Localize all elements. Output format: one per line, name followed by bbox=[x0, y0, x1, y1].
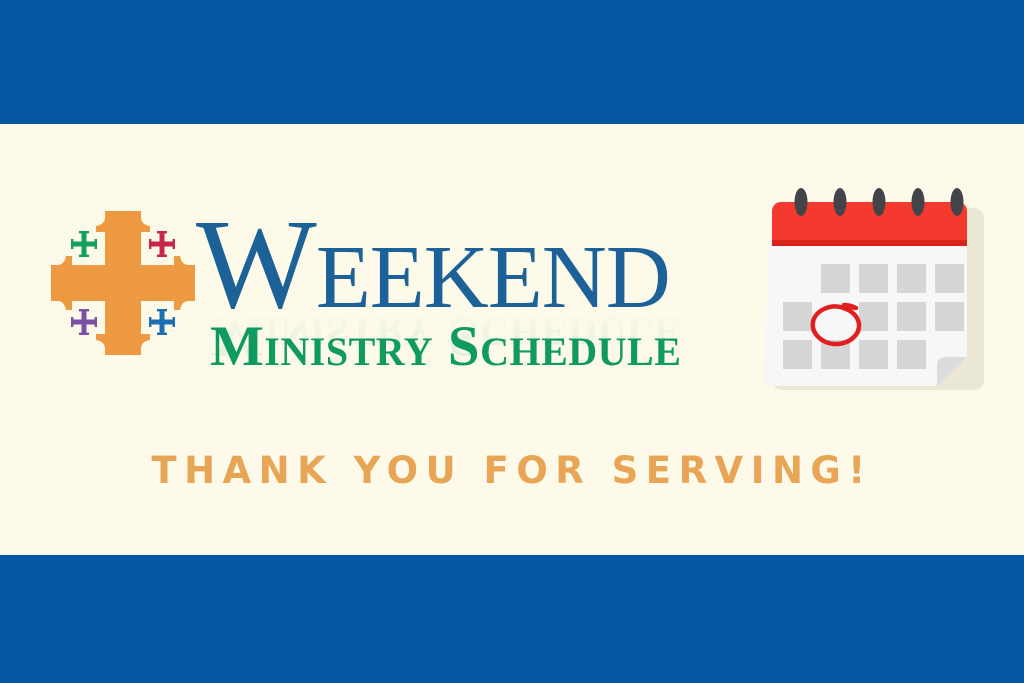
wordmark: Weekend Ministry Schedule Ministry Sched… bbox=[196, 200, 756, 385]
jerusalem-cross-icon bbox=[47, 207, 199, 359]
top-blue-band bbox=[0, 0, 1024, 124]
calendar-icon bbox=[762, 184, 984, 402]
page-title: Weekend bbox=[196, 200, 670, 328]
bottom-blue-band bbox=[0, 555, 1024, 683]
banner-content-area: Weekend Ministry Schedule Ministry Sched… bbox=[0, 124, 1024, 555]
weekend-ministry-schedule-banner: Weekend Ministry Schedule Ministry Sched… bbox=[0, 0, 1024, 683]
tagline-text: THANK YOU FOR SERVING! bbox=[0, 449, 1024, 492]
page-subtitle: Ministry Schedule bbox=[210, 318, 681, 375]
